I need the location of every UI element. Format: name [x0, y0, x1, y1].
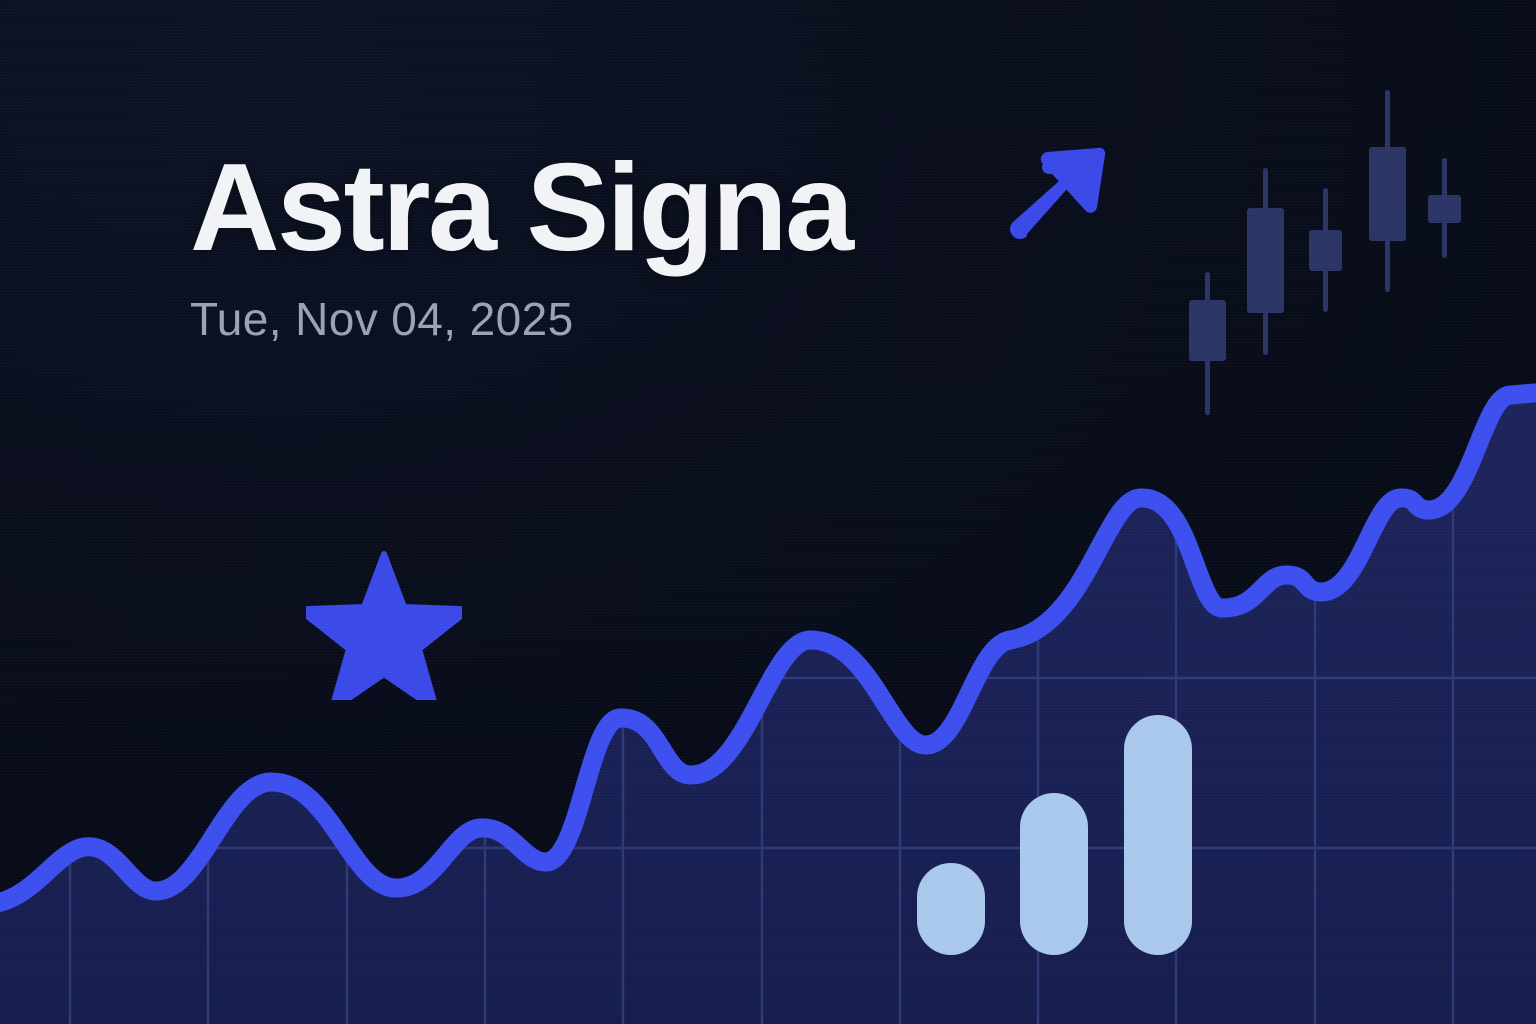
trending-up-arrow-icon	[1005, 138, 1113, 246]
star-icon	[306, 550, 462, 700]
bar-2	[1020, 793, 1088, 955]
bar-3	[1124, 715, 1192, 955]
candle-body	[1247, 208, 1284, 313]
header-block: Astra Signa Tue, Nov 04, 2025	[190, 146, 852, 342]
bar-1	[917, 863, 985, 955]
candlestick-chart-icon	[1170, 80, 1480, 430]
candle-body	[1369, 147, 1406, 241]
date-label: Tue, Nov 04, 2025	[190, 296, 852, 342]
page-title: Astra Signa	[190, 146, 852, 270]
signal-card: Astra Signa Tue, Nov 04, 2025	[0, 0, 1536, 1024]
candle-body	[1428, 195, 1461, 223]
candle-body	[1309, 230, 1342, 271]
candle-body	[1189, 300, 1226, 361]
bar-chart-icon	[905, 700, 1205, 965]
